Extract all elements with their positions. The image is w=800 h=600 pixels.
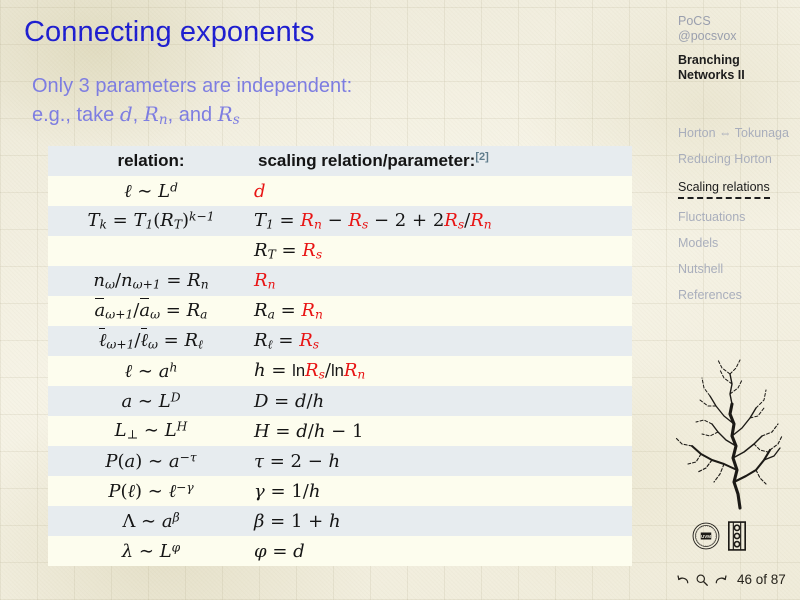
cell-scaling: d — [254, 176, 632, 206]
subtitle: Only 3 parameters are independent: e.g.,… — [32, 72, 352, 134]
cell-relation: P(a) ∼ a−τ — [48, 446, 254, 476]
table-row: L⊥ ∼ LH H = d/h − 1 — [48, 416, 632, 446]
table-row: λ ∼ Lφ φ = d — [48, 536, 632, 566]
scaling-relations-table: relation: scaling relation/parameter:[2]… — [48, 146, 632, 566]
cell-scaling: Rℓ = Rs — [254, 326, 632, 356]
table-row: P(a) ∼ a−τ τ = 2 − h — [48, 446, 632, 476]
symbol-Rn-base: R — [144, 102, 159, 126]
subtitle-prefix: e.g., take — [32, 104, 120, 126]
symbol-d: d — [120, 102, 133, 126]
cell-scaling: h = lnRs/lnRn — [254, 356, 632, 386]
table-row: P(ℓ) ∼ ℓ−γ γ = 1/h — [48, 476, 632, 506]
magnifier-icon[interactable] — [695, 573, 709, 587]
cell-relation: ℓ ∼ ah — [48, 356, 254, 386]
uvm-seal-icon: UVM — [692, 522, 720, 550]
table-row: aω+1/aω = Ra Ra = Rn — [48, 296, 632, 326]
symbol-Rs-sub: s — [233, 112, 240, 128]
table-header-row: relation: scaling relation/parameter:[2] — [48, 146, 632, 176]
cell-scaling: β = 1 + h — [254, 506, 632, 536]
sidebar-item-fluctuations[interactable]: Fluctuations — [678, 210, 798, 225]
sidebar-item-reducing-horton[interactable]: Reducing Horton — [678, 152, 798, 167]
symbol-Rn-sub: n — [159, 112, 168, 128]
subtitle-line-2: e.g., take d, Rn, and Rs — [32, 100, 352, 134]
table-row: ℓ ∼ Ld d — [48, 176, 632, 206]
header-relation: relation: — [48, 146, 254, 176]
cell-scaling: T1 = Rn − Rs − 2 + 2Rs/Rn — [254, 206, 632, 236]
subtitle-and: , and — [168, 104, 218, 126]
page-title: Connecting exponents — [24, 16, 315, 49]
cell-relation: Tk = T1(RT)k−1 — [48, 206, 254, 236]
cell-scaling: Ra = Rn — [254, 296, 632, 326]
subtitle-line-1: Only 3 parameters are independent: — [32, 72, 352, 100]
cell-scaling: D = d/h — [254, 386, 632, 416]
cell-relation: Λ ∼ aβ — [48, 506, 254, 536]
cell-scaling: Rn — [254, 266, 632, 296]
table-row: Tk = T1(RT)k−1 T1 = Rn − Rs − 2 + 2Rs/Rn — [48, 206, 632, 236]
sidebar-item-scaling-relations[interactable]: Scaling relations — [678, 180, 770, 199]
cell-relation: ℓ ∼ Ld — [48, 176, 254, 206]
cell-relation: aω+1/aω = Ra — [48, 296, 254, 326]
table-row: a ∼ LD D = d/h — [48, 386, 632, 416]
cell-scaling: RT = Rs — [254, 236, 632, 266]
cell-relation: L⊥ ∼ LH — [48, 416, 254, 446]
header-scaling: scaling relation/parameter:[2] — [254, 146, 632, 176]
undo-arrow-icon[interactable] — [676, 572, 691, 587]
deck-title-line-2: Networks II — [678, 68, 796, 83]
table-row: ℓ ∼ ah h = lnRs/lnRn — [48, 356, 632, 386]
redo-arrow-icon[interactable] — [713, 572, 728, 587]
cell-relation — [48, 236, 254, 266]
brand-pocs: PoCS — [678, 14, 796, 29]
branching-network-graphic — [668, 344, 792, 510]
slide-root: Connecting exponents Only 3 parameters a… — [0, 0, 800, 600]
cell-relation: a ∼ LD — [48, 386, 254, 416]
subtitle-comma-1: , — [133, 104, 144, 126]
footer-logos: UVM — [692, 521, 746, 551]
cell-scaling: H = d/h − 1 — [254, 416, 632, 446]
cell-relation: λ ∼ Lφ — [48, 536, 254, 566]
header-scaling-label: scaling relation/parameter: — [258, 151, 475, 170]
cell-scaling: φ = d — [254, 536, 632, 566]
sidebar-item-scaling-relations-wrap: Scaling relations — [678, 178, 798, 199]
oso-logo-icon — [728, 521, 746, 551]
table-row: Λ ∼ aβ β = 1 + h — [48, 506, 632, 536]
symbol-Rs-base: R — [218, 102, 233, 126]
sidebar-item-references[interactable]: References — [678, 288, 798, 303]
cell-relation: P(ℓ) ∼ ℓ−γ — [48, 476, 254, 506]
table-row: RT = Rs — [48, 236, 632, 266]
svg-text:UVM: UVM — [701, 534, 711, 539]
table-row: ℓω+1/ℓω = Rℓ Rℓ = Rs — [48, 326, 632, 356]
sidebar-nav: Horton ⇔ Tokunaga Reducing Horton Scalin… — [678, 126, 798, 314]
cell-scaling: τ = 2 − h — [254, 446, 632, 476]
sidebar-item-horton-tokunaga[interactable]: Horton ⇔ Tokunaga — [678, 126, 798, 141]
cell-relation: ℓω+1/ℓω = Rℓ — [48, 326, 254, 356]
table-row: nω/nω+1 = Rn Rn — [48, 266, 632, 296]
page-number: 46 of 87 — [737, 572, 786, 587]
cell-scaling: γ = 1/h — [254, 476, 632, 506]
deck-title-line-1: Branching — [678, 53, 796, 68]
sidebar-item-nutshell[interactable]: Nutshell — [678, 262, 798, 277]
sidebar-item-models[interactable]: Models — [678, 236, 798, 251]
sidebar-brand: PoCS @pocsvox Branching Networks II — [678, 14, 796, 83]
brand-handle: @pocsvox — [678, 29, 796, 44]
cell-relation: nω/nω+1 = Rn — [48, 266, 254, 296]
footer-navigation: 46 of 87 — [676, 572, 786, 587]
citation-marker: [2] — [475, 151, 488, 163]
